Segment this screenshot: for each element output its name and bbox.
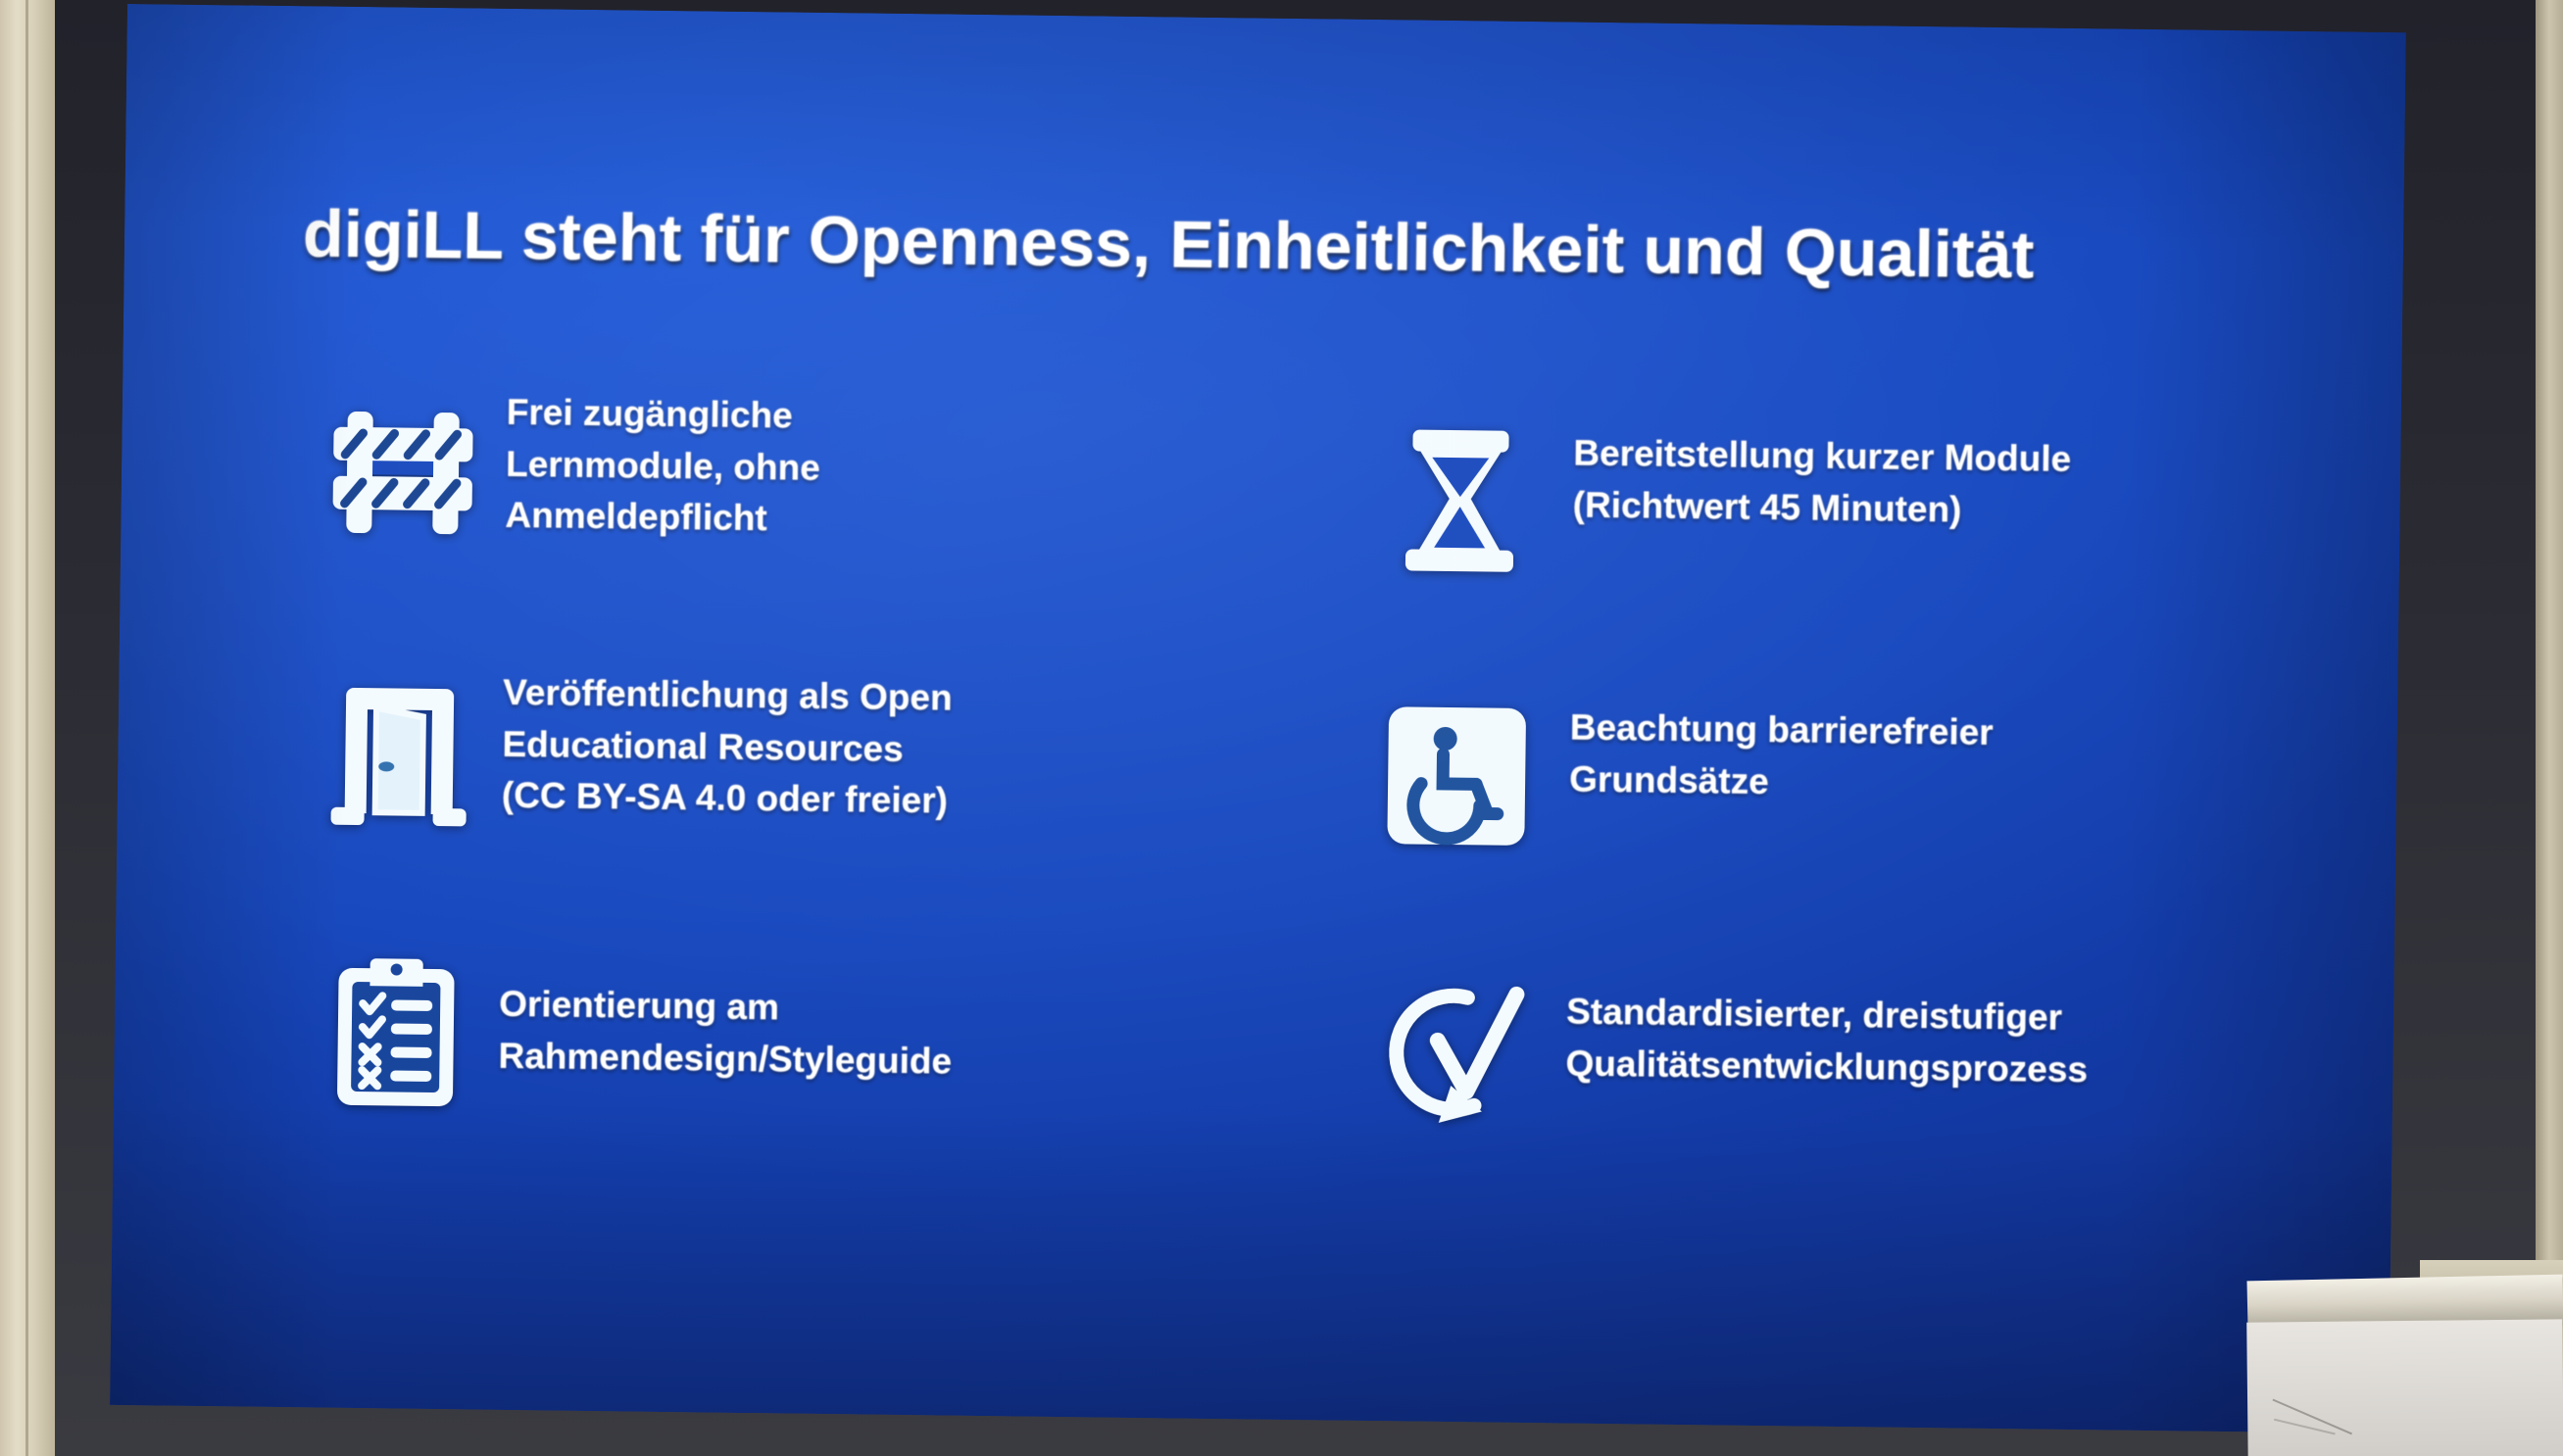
feature-text: Standardisierter, dreistufiger Qualitäts… [1565, 947, 2089, 1096]
feature-item: Standardisierter, dreistufiger Qualitäts… [1338, 945, 2312, 1233]
left-wall-strip [0, 0, 55, 1456]
feature-text: Orientierung am Rahmendesign/Styleguide [498, 934, 953, 1088]
feature-item: Bereitstellung kurzer Module (Richtwert … [1346, 392, 2320, 680]
hourglass-icon [1347, 406, 1574, 595]
wall-seam [25, 0, 28, 1456]
feature-text: Frei zugängliche Lernmodule, ohne Anmeld… [505, 381, 821, 546]
slide-title: digiLL steht für Openness, Einheitlichke… [303, 198, 2264, 295]
feature-item: Veröffentlichung als Open Educational Re… [294, 655, 1268, 943]
feature-text: Bereitstellung kurzer Module (Richtwert … [1572, 395, 2072, 537]
open-door-icon [295, 660, 503, 849]
feature-grid: Frei zugängliche Lernmodule, ohne Anmeld… [291, 378, 2320, 1233]
feature-item: Frei zugängliche Lernmodule, ohne Anmeld… [298, 378, 1272, 666]
feature-text: Beachtung barrierefreier Grundsätze [1569, 671, 1995, 810]
feature-text: Veröffentlichung als Open Educational Re… [502, 657, 954, 827]
slide-page-number: 6 [2298, 1316, 2313, 1346]
wheelchair-accessibility-icon [1343, 682, 1570, 871]
right-wall-strip [2536, 0, 2563, 1456]
feature-item: Orientierung am Rahmendesign/Styleguide [291, 931, 1265, 1219]
clipboard-checklist-icon [292, 937, 500, 1126]
cycle-checkmark-icon [1339, 958, 1566, 1147]
room-photo: digiLL steht für Openness, Einheitlichke… [0, 0, 2563, 1456]
presentation-slide: digiLL steht für Openness, Einheitlichke… [110, 4, 2406, 1433]
feature-item: Beachtung barrierefreier Grundsätze [1342, 668, 2316, 956]
road-barrier-icon [299, 378, 507, 567]
projected-slide-wrapper: digiLL steht für Openness, Einheitlichke… [110, 4, 2406, 1433]
